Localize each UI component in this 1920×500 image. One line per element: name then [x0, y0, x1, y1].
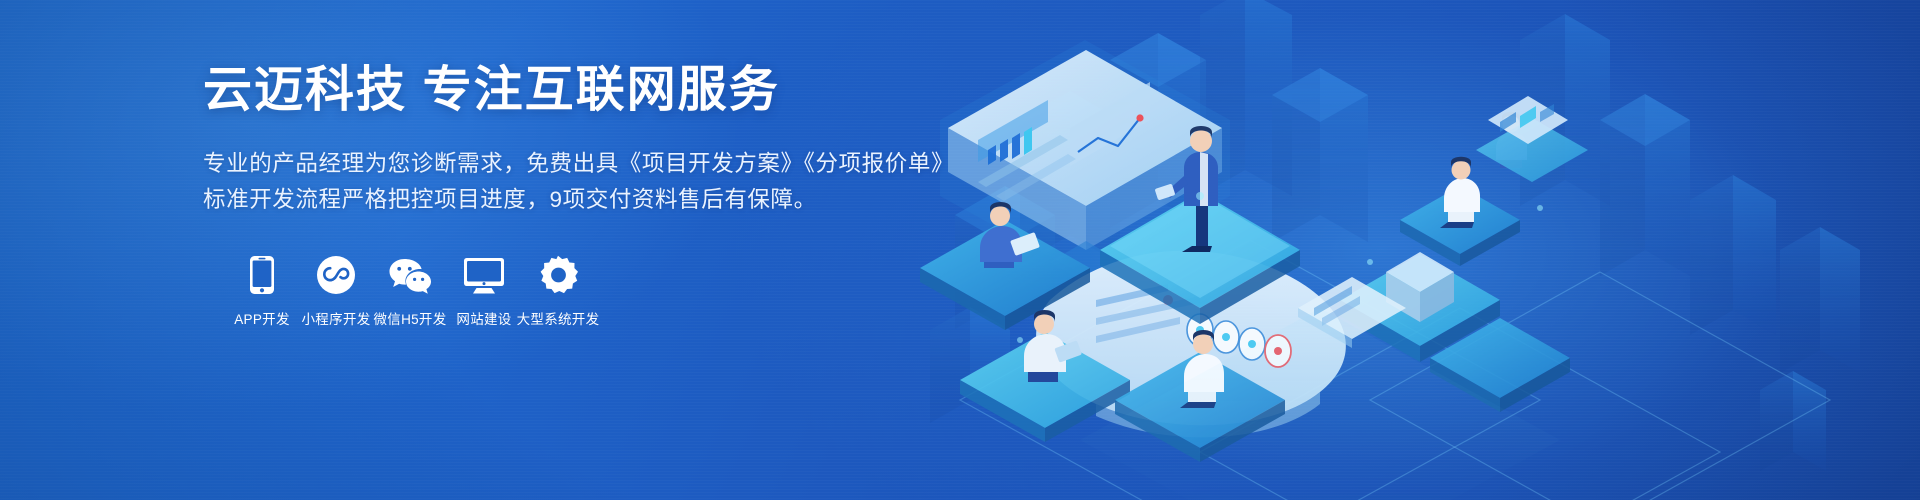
subtitle-line-2: 标准开发流程严格把控项目进度，9项交付资料售后有保障。 [203, 182, 963, 218]
subtitle-block: 专业的产品经理为您诊断需求，免费出具《项目开发方案》《分项报价单》 标准开发流程… [203, 146, 963, 219]
subtitle-line-1: 专业的产品经理为您诊断需求，免费出具《项目开发方案》《分项报价单》 [203, 146, 963, 182]
service-item-wechat-h5[interactable]: 微信H5开发 [373, 249, 447, 328]
banner-content: 云迈科技 专注互联网服务 专业的产品经理为您诊断需求，免费出具《项目开发方案》《… [203, 62, 963, 328]
service-item-app[interactable]: APP开发 [225, 249, 299, 328]
service-item-large-system[interactable]: 大型系统开发 [521, 249, 595, 328]
gear-icon [538, 249, 578, 295]
mini-program-icon [316, 249, 356, 295]
service-list: APP开发 小程序开发 [225, 249, 963, 328]
wechat-icon [388, 249, 432, 295]
isometric-data-analytics-illustration [900, 0, 1920, 500]
service-label-app: APP开发 [234, 308, 290, 328]
service-label-wechat-h5: 微信H5开发 [373, 308, 446, 328]
service-label-large-system: 大型系统开发 [517, 308, 600, 328]
service-item-website[interactable]: 网站建设 [447, 249, 521, 328]
page-title: 云迈科技 专注互联网服务 [203, 62, 963, 120]
service-label-website: 网站建设 [456, 308, 511, 328]
monitor-icon [463, 249, 505, 295]
mobile-phone-icon [249, 249, 275, 295]
service-item-miniprogram[interactable]: 小程序开发 [299, 249, 373, 328]
service-label-miniprogram: 小程序开发 [302, 308, 371, 328]
hero-banner: 云迈科技 专注互联网服务 专业的产品经理为您诊断需求，免费出具《项目开发方案》《… [0, 0, 1920, 500]
